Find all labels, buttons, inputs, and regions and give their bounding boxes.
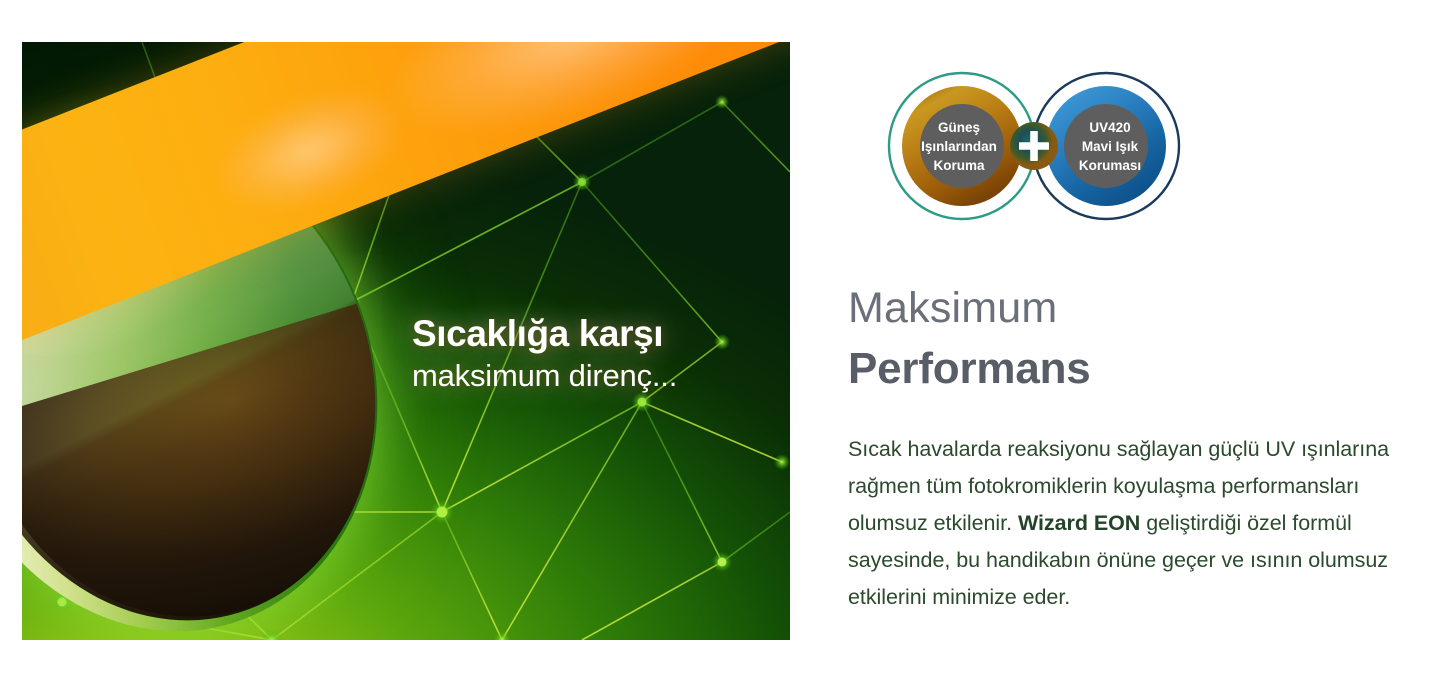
badge-right-line-1: UV420	[1089, 120, 1130, 135]
hero-image: Sıcaklığa karşı maksimum direnç...	[22, 42, 790, 640]
badge-right-line-2: Mavi Işık	[1082, 139, 1139, 154]
dual-protection-badge: Güneş Işınlarından Koruma UV420 Mavi Işı…	[854, 38, 1214, 254]
badge-left-line-1: Güneş	[938, 120, 980, 135]
body-paragraph: Sıcak havalarda reaksiyonu sağlayan güçl…	[848, 431, 1418, 616]
content-column: Güneş Işınlarından Koruma UV420 Mavi Işı…	[848, 38, 1428, 638]
headline-bold: Performans	[848, 344, 1428, 393]
product-feature-page: Sıcaklığa karşı maksimum direnç...	[0, 0, 1445, 686]
brand-name: Wizard EON	[1018, 511, 1140, 535]
badge-left-line-2: Işınlarından	[921, 139, 997, 154]
badge-right-line-3: Koruması	[1079, 158, 1141, 173]
badge-left-line-3: Koruma	[933, 158, 984, 173]
headline-light: Maksimum	[848, 284, 1428, 332]
